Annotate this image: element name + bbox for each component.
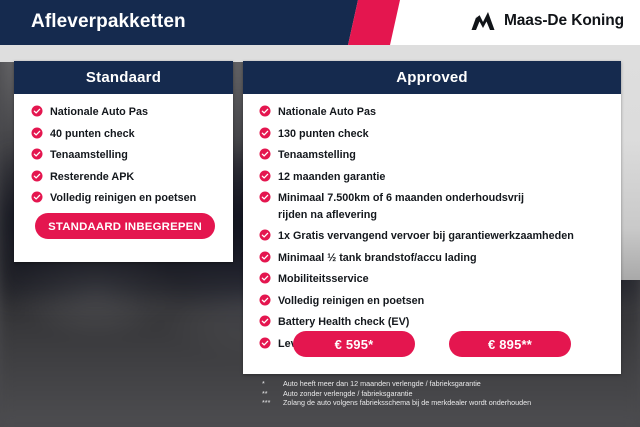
list-item: Volledig reinigen en poetsen (14, 192, 233, 204)
list-item: Volledig reinigen en poetsen (243, 295, 621, 307)
list-item: Resterende APK (14, 171, 233, 183)
check-circle-icon (31, 127, 43, 139)
list-item: 1x Gratis vervangend vervoer bij garanti… (243, 230, 621, 242)
list-item: Nationale Auto Pas (243, 106, 621, 118)
brand-name: Maas-De Koning (504, 12, 624, 30)
list-item: Battery Health check (EV) (243, 316, 621, 328)
check-circle-icon (259, 127, 271, 139)
check-circle-icon (259, 191, 271, 203)
list-item: Tenaamstelling (14, 149, 233, 161)
check-circle-icon (259, 315, 271, 327)
check-circle-icon (31, 148, 43, 160)
standard-feature-label: Volledig reinigen en poetsen (50, 192, 196, 204)
check-circle-icon (259, 105, 271, 117)
check-circle-icon (259, 251, 271, 263)
check-circle-icon (259, 229, 271, 241)
approved-price-row: € 595* € 895** (243, 331, 621, 357)
page-header: Afleverpakketten Maas-De Koning (0, 0, 640, 45)
list-item: Nationale Auto Pas (14, 106, 233, 118)
footnote-triple-asterisk: *** Zolang de auto volgens fabrieksschem… (262, 398, 632, 408)
price-button-895[interactable]: € 895** (449, 331, 571, 357)
footnote-double-asterisk: ** Auto zonder verlengde / fabrieksgaran… (262, 389, 632, 399)
maas-de-koning-m-logo-icon (470, 11, 496, 31)
check-circle-icon (31, 191, 43, 203)
list-item: 12 maanden garantie (243, 171, 621, 183)
footnote-mark: *** (262, 398, 283, 408)
brand-lockup: Maas-De Koning (470, 11, 624, 31)
standard-feature-label: 40 punten check (50, 128, 135, 140)
list-item: Minimaal 7.500km of 6 maanden onderhouds… (243, 192, 621, 221)
check-circle-icon (31, 170, 43, 182)
list-item: Tenaamstelling (243, 149, 621, 161)
check-circle-icon (31, 105, 43, 117)
approved-feature-label: 1x Gratis vervangend vervoer bij garanti… (278, 230, 574, 242)
approved-feature-label-multiline: Minimaal 7.500km of 6 maanden onderhouds… (278, 192, 524, 221)
approved-feature-label: Tenaamstelling (278, 149, 356, 161)
standard-feature-label: Nationale Auto Pas (50, 106, 148, 118)
list-item: Minimaal ½ tank brandstof/accu lading (243, 252, 621, 264)
approved-card-body: Nationale Auto Pas 130 punten check Tena… (243, 94, 621, 350)
approved-feature-line1: Minimaal 7.500km of 6 maanden onderhouds… (278, 192, 524, 204)
price-button-595[interactable]: € 595* (293, 331, 415, 357)
approved-feature-label: Mobiliteitsservice (278, 273, 369, 285)
footnotes: * Auto heeft meer dan 12 maanden verleng… (262, 379, 632, 408)
standard-card-heading: Standaard (14, 61, 233, 94)
approved-feature-label: Minimaal ½ tank brandstof/accu lading (278, 252, 477, 264)
standard-included-button[interactable]: STANDAARD INBEGREPEN (35, 213, 215, 239)
approved-feature-label: 130 punten check (278, 128, 369, 140)
background-grey-strip (0, 45, 640, 62)
footnote-text: Auto heeft meer dan 12 maanden verlengde… (283, 379, 481, 389)
standard-feature-label: Resterende APK (50, 171, 134, 183)
page-title: Afleverpakketten (31, 11, 186, 33)
standard-feature-label: Tenaamstelling (50, 149, 128, 161)
approved-feature-line2: rijden na aflevering (278, 209, 524, 221)
footnote-mark: * (262, 379, 283, 389)
list-item: 130 punten check (243, 128, 621, 140)
approved-feature-label: 12 maanden garantie (278, 171, 385, 183)
approved-feature-label: Volledig reinigen en poetsen (278, 295, 424, 307)
approved-feature-label: Nationale Auto Pas (278, 106, 376, 118)
standard-card-body: Nationale Auto Pas 40 punten check Tenaa… (14, 94, 233, 204)
list-item: 40 punten check (14, 128, 233, 140)
check-circle-icon (259, 272, 271, 284)
standard-package-card: Standaard Nationale Auto Pas 40 punten c… (14, 61, 233, 262)
approved-card-heading: Approved (243, 61, 621, 94)
footnote-mark: ** (262, 389, 283, 399)
footnote-text: Zolang de auto volgens fabrieksschema bi… (283, 398, 531, 408)
list-item: Mobiliteitsservice (243, 273, 621, 285)
check-circle-icon (259, 170, 271, 182)
footnote-text: Auto zonder verlengde / fabrieksgarantie (283, 389, 412, 399)
check-circle-icon (259, 294, 271, 306)
check-circle-icon (259, 148, 271, 160)
approved-feature-label: Battery Health check (EV) (278, 316, 409, 328)
poster-root: Afleverpakketten Maas-De Koning Standaar… (0, 0, 640, 427)
footnote-single-asterisk: * Auto heeft meer dan 12 maanden verleng… (262, 379, 632, 389)
approved-package-card: Approved Nationale Auto Pas 130 punten c… (243, 61, 621, 374)
approved-feature-list: Nationale Auto Pas 130 punten check Tena… (243, 106, 621, 350)
standard-feature-list: Nationale Auto Pas 40 punten check Tenaa… (14, 106, 233, 204)
